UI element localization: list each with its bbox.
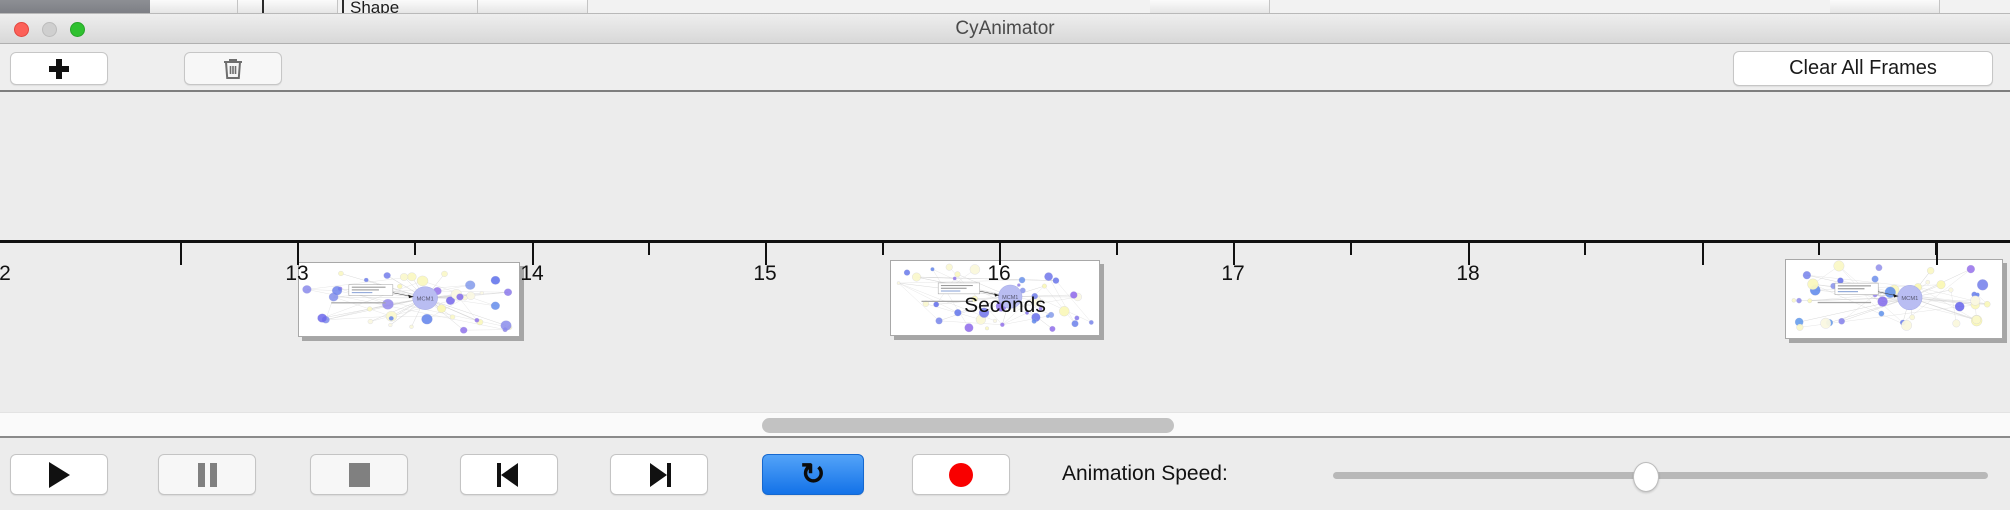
- skip-end-icon: [647, 463, 671, 487]
- timeline-scrollbar[interactable]: [0, 412, 2010, 438]
- axis-line: [0, 240, 2010, 243]
- axis-tick-label: 18: [1428, 262, 1508, 286]
- skip-to-end-button[interactable]: [610, 454, 708, 495]
- window-title: CyAnimator: [0, 14, 2010, 44]
- axis-tick-minor: [882, 243, 884, 255]
- axis-tick-label: 13: [257, 262, 337, 286]
- background-dark-panel: [0, 0, 150, 14]
- axis-title: Seconds: [0, 294, 2010, 318]
- axis-tick-minor: [1818, 243, 1820, 255]
- axis-tick-label: 15: [725, 262, 805, 286]
- skip-start-icon: [497, 463, 521, 487]
- loop-icon: ↻: [800, 460, 825, 490]
- pause-button[interactable]: [158, 454, 256, 495]
- stop-icon: [349, 463, 370, 487]
- toolbar: Clear All Frames: [0, 44, 2010, 92]
- background-tick: [262, 0, 264, 14]
- loop-button[interactable]: ↻: [762, 454, 864, 495]
- play-button[interactable]: [10, 454, 108, 495]
- delete-frame-button[interactable]: [184, 52, 282, 85]
- background-window-label: Shape: [350, 0, 399, 14]
- trash-icon: [222, 57, 244, 81]
- axis-tick-minor: [1350, 243, 1352, 255]
- clear-all-frames-button[interactable]: Clear All Frames: [1733, 51, 1993, 86]
- skip-to-start-button[interactable]: [460, 454, 558, 495]
- background-chip: [238, 0, 338, 14]
- axis-tick-label: 16: [959, 262, 1039, 286]
- add-frame-button[interactable]: [10, 52, 108, 85]
- playback-bar: ↻ Animation Speed:: [0, 440, 2010, 510]
- background-chip: [392, 0, 478, 14]
- axis-tick-minor: [1584, 243, 1586, 255]
- axis-tick-label: 2: [0, 262, 45, 286]
- background-chip: [150, 0, 238, 14]
- axis-tick-label: 14: [492, 262, 572, 286]
- slider-track: [1333, 472, 1988, 479]
- axis-tick-major: [1702, 243, 1704, 265]
- play-icon: [49, 462, 70, 488]
- background-chip: [1830, 0, 1940, 14]
- animation-speed-slider[interactable]: [1333, 454, 1988, 496]
- axis-tick-label: 17: [1193, 262, 1273, 286]
- axis-tick-minor: [180, 243, 182, 255]
- animation-speed-label: Animation Speed:: [1062, 462, 1228, 486]
- slider-thumb[interactable]: [1633, 462, 1659, 492]
- scrollbar-thumb[interactable]: [762, 418, 1174, 433]
- axis-tick-minor: [1116, 243, 1118, 255]
- axis-tick-minor: [648, 243, 650, 255]
- stop-button[interactable]: [310, 454, 408, 495]
- timeline-panel[interactable]: MCM1MCM1MCM1 2131415161718 Seconds: [0, 92, 2010, 412]
- axis-tick-minor: [1935, 243, 1937, 255]
- record-icon: [949, 463, 973, 487]
- title-bar: CyAnimator: [0, 14, 2010, 44]
- cyanimator-window: Shape CyAnimator Clear All Frames MCM1MC: [0, 0, 2010, 510]
- background-chip: [478, 0, 588, 14]
- axis-tick-minor: [414, 243, 416, 255]
- plus-icon: [49, 59, 69, 79]
- background-chip: [1150, 0, 1270, 14]
- pause-icon: [198, 463, 217, 487]
- background-tick: [342, 0, 344, 14]
- record-button[interactable]: [912, 454, 1010, 495]
- clear-all-frames-label: Clear All Frames: [1789, 57, 1937, 80]
- background-window-strip: Shape: [0, 0, 2010, 14]
